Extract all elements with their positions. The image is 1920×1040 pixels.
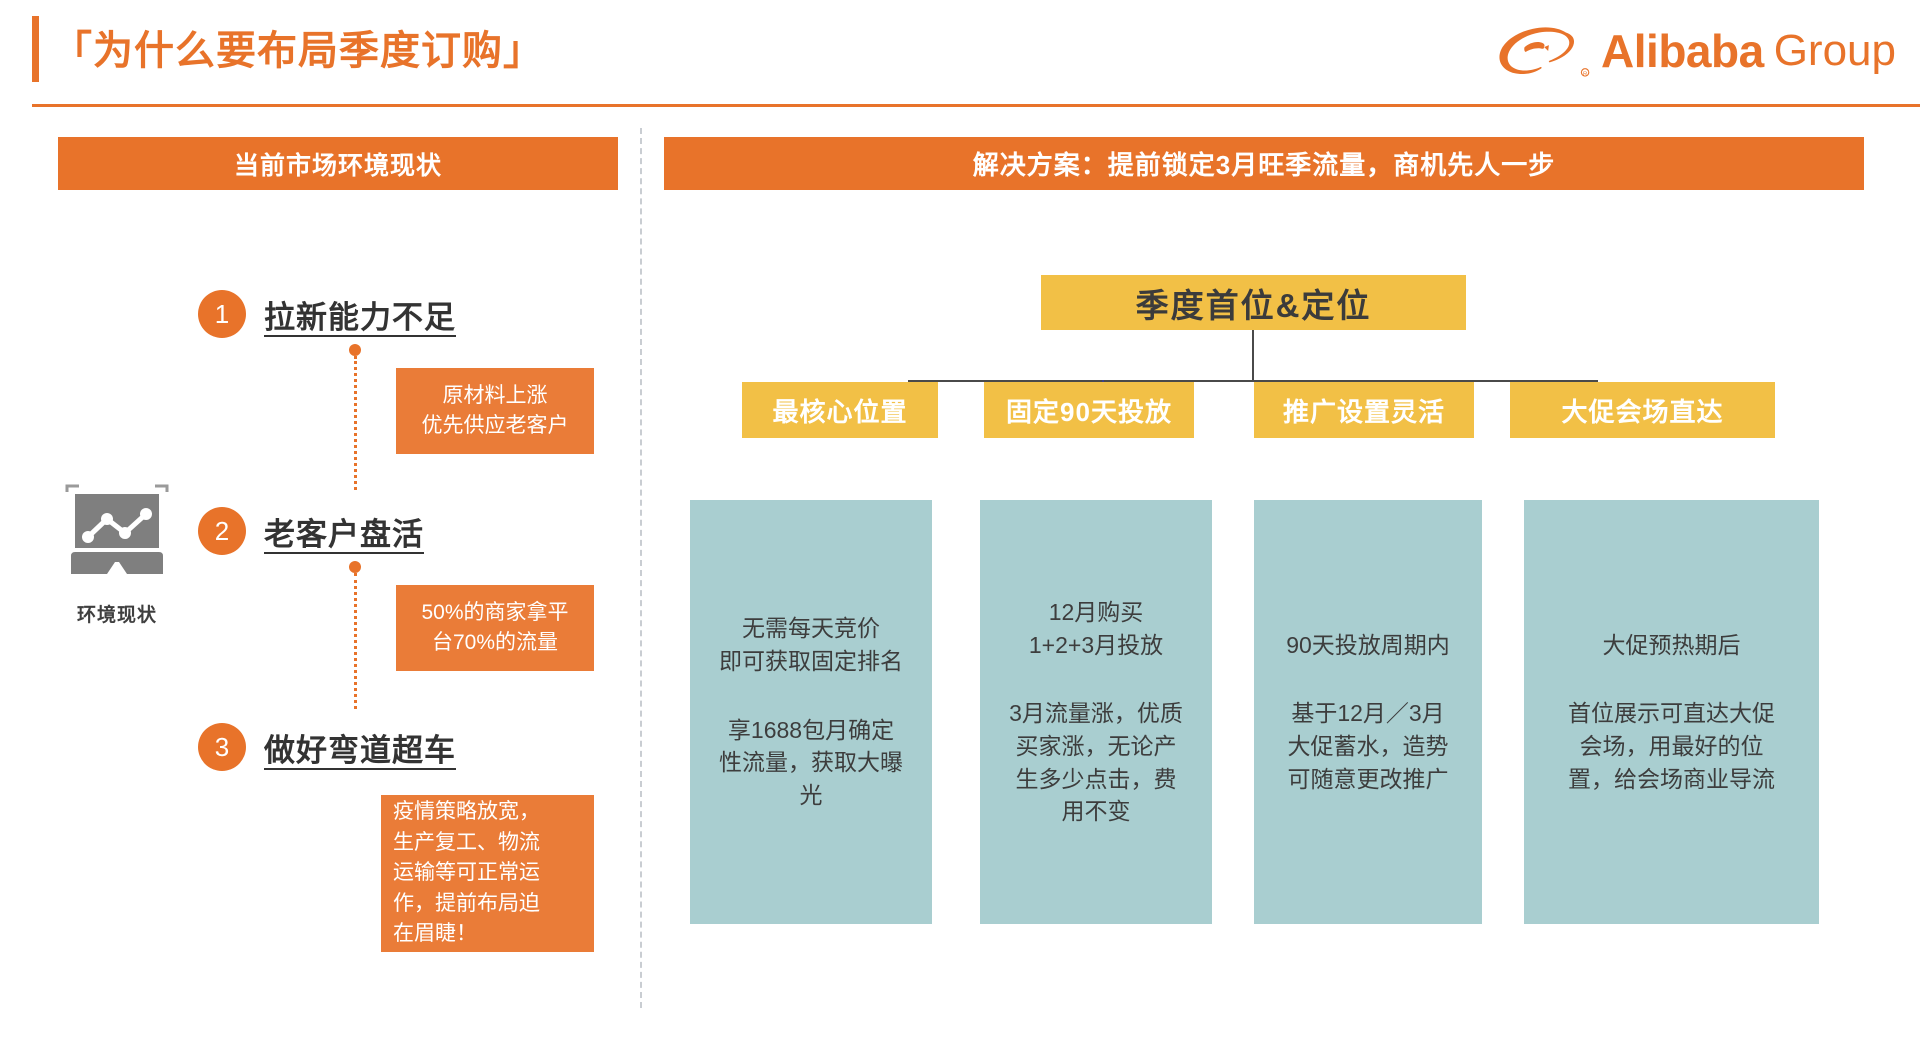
branch-detail-2-top: 12月购买 1+2+3月投放 [1029,596,1163,661]
branch-detail-2-bottom: 3月流量涨，优质 买家涨，无论产 生多少点击，费 用不变 [1009,697,1183,828]
branch-detail-4-top-line-1: 大促预热期后 [1603,629,1741,662]
branch-detail-3-bottom-line-1: 基于12月／3月 [1288,697,1449,730]
branch-label-4: 大促会场直达 [1510,382,1775,438]
left-item-1-note-line-1: 原材料上涨 [443,381,548,411]
environment-status-icon-block: 环境现状 [52,478,182,627]
left-item-2-number: 2 [198,507,246,555]
left-item-2-note: 50%的商家拿平 台70%的流量 [396,585,594,671]
title-accent-bar [32,16,39,82]
branch-detail-3: 90天投放周期内 基于12月／3月 大促蓄水，造势 可随意更改推广 [1254,500,1482,924]
connector-line [354,573,357,709]
branch-detail-4-top: 大促预热期后 [1603,629,1741,662]
left-item-3-note-line-5: 在眉睫！ [393,919,477,949]
column-divider [640,128,642,1008]
left-item-2-title: 老客户盘活 [264,509,424,554]
connector-line [354,356,357,490]
left-item-3-note-line-2: 生产复工、物流 [393,828,540,858]
left-item-3-note-line-4: 作，提前布局迫 [393,889,540,919]
environment-status-label: 环境现状 [52,600,182,627]
branch-detail-4-bottom-line-3: 置，给会场商业导流 [1568,763,1775,796]
branch-detail-1-top-line-2: 即可获取固定排名 [719,645,903,678]
branch-detail-3-top-line-1: 90天投放周期内 [1286,629,1450,662]
alibaba-group-logo: R Alibaba Group [1495,22,1896,80]
left-item-1-connector [349,344,361,490]
branch-detail-1-bottom-line-1: 享1688包月确定 [719,714,903,747]
branch-detail-4-bottom: 首位展示可直达大促 会场，用最好的位 置，给会场商业导流 [1568,697,1775,795]
left-item-2-note-line-2: 台70%的流量 [432,628,558,658]
connector-dot [349,344,361,356]
branch-detail-3-top: 90天投放周期内 [1286,629,1450,662]
header-divider-rule [32,104,1920,107]
branch-label-2: 固定90天投放 [984,382,1194,438]
line-chart-monitor-icon [61,478,173,586]
branch-detail-3-bottom: 基于12月／3月 大促蓄水，造势 可随意更改推广 [1288,697,1449,795]
svg-text:R: R [1583,71,1587,77]
left-item-2: 2 老客户盘活 [198,507,424,555]
left-item-1-note: 原材料上涨 优先供应老客户 [396,368,594,454]
tree-trunk-connector [1252,330,1254,382]
branch-detail-1-top: 无需每天竞价 即可获取固定排名 [719,612,903,677]
branch-detail-3-bottom-line-2: 大促蓄水，造势 [1288,730,1449,763]
branch-detail-1-top-line-1: 无需每天竞价 [719,612,903,645]
branch-detail-3-bottom-line-3: 可随意更改推广 [1288,763,1449,796]
branch-detail-2-bottom-line-3: 生多少点击，费 [1009,763,1183,796]
branch-label-1: 最核心位置 [742,382,938,438]
left-item-3-note: 疫情策略放宽， 生产复工、物流 运输等可正常运 作，提前布局迫 在眉睫！ [381,795,594,952]
left-item-3-note-line-1: 疫情策略放宽， [393,797,540,827]
branch-label-3: 推广设置灵活 [1254,382,1474,438]
left-item-3-note-line-3: 运输等可正常运 [393,858,540,888]
left-item-1-note-line-2: 优先供应老客户 [422,411,569,441]
branch-detail-1-bottom-line-2: 性流量，获取大曝 [719,746,903,779]
connector-dot [349,561,361,573]
tree-root-node: 季度首位&定位 [1041,275,1466,330]
branch-detail-2-top-line-1: 12月购买 [1029,596,1163,629]
branch-detail-4-bottom-line-1: 首位展示可直达大促 [1568,697,1775,730]
left-panel-heading: 当前市场环境现状 [58,137,618,190]
branch-detail-2-bottom-line-2: 买家涨，无论产 [1009,730,1183,763]
branch-detail-2-top-line-2: 1+2+3月投放 [1029,629,1163,662]
left-item-1-number: 1 [198,290,246,338]
branch-detail-1: 无需每天竞价 即可获取固定排名 享1688包月确定 性流量，获取大曝 光 [690,500,932,924]
logo-brand-text: Alibaba [1601,28,1764,74]
left-item-2-connector [349,561,361,709]
left-item-3-title: 做好弯道超车 [264,725,456,770]
branch-detail-1-bottom-line-3: 光 [719,779,903,812]
left-item-3: 3 做好弯道超车 [198,723,456,771]
right-panel-heading: 解决方案：提前锁定3月旺季流量，商机先人一步 [664,137,1864,190]
branch-detail-2-bottom-line-4: 用不变 [1009,795,1183,828]
page-title: 「为什么要布局季度订购」 [52,18,544,76]
branch-detail-2-bottom-line-1: 3月流量涨，优质 [1009,697,1183,730]
left-item-1: 1 拉新能力不足 [198,290,456,338]
logo-suffix-text: Group [1774,29,1896,73]
left-item-2-note-line-1: 50%的商家拿平 [421,598,568,628]
branch-detail-2: 12月购买 1+2+3月投放 3月流量涨，优质 买家涨，无论产 生多少点击，费 … [980,500,1212,924]
slide-root: 「为什么要布局季度订购」 R Alibaba Group 当前市场环境现状 [0,0,1920,1040]
branch-detail-1-bottom: 享1688包月确定 性流量，获取大曝 光 [719,714,903,812]
branch-detail-4: 大促预热期后 首位展示可直达大促 会场，用最好的位 置，给会场商业导流 [1524,500,1819,924]
slide-header: 「为什么要布局季度订购」 R Alibaba Group [0,0,1920,108]
left-item-3-number: 3 [198,723,246,771]
left-item-1-title: 拉新能力不足 [264,292,456,337]
branch-detail-4-bottom-line-2: 会场，用最好的位 [1568,730,1775,763]
alibaba-logo-mark-icon: R [1495,22,1591,80]
